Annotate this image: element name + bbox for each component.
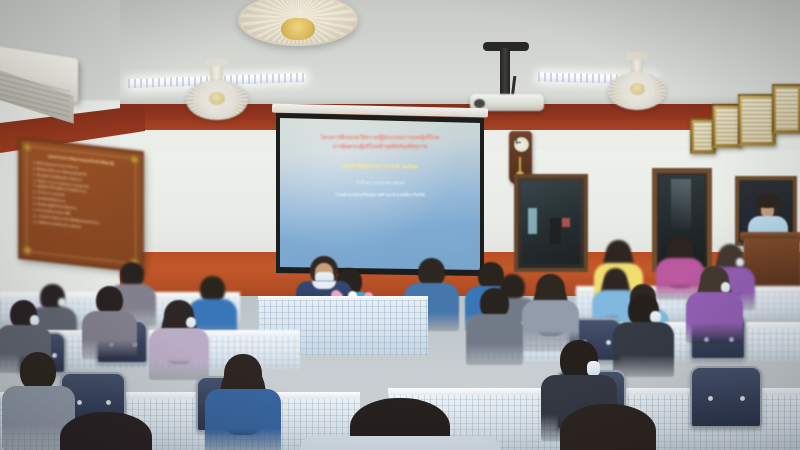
conference-room-photo: คุณธรรมและจริยธรรมของเจ้าหน้าที่ของรัฐ ๑… xyxy=(0,0,800,450)
foreground-attendee-head xyxy=(560,404,656,450)
conference-chair[interactable] xyxy=(690,366,762,428)
foreground-attendee-body xyxy=(300,436,500,450)
attendee-body xyxy=(205,389,280,450)
face-mask-icon xyxy=(587,361,600,376)
audience-front-rows xyxy=(0,0,800,450)
